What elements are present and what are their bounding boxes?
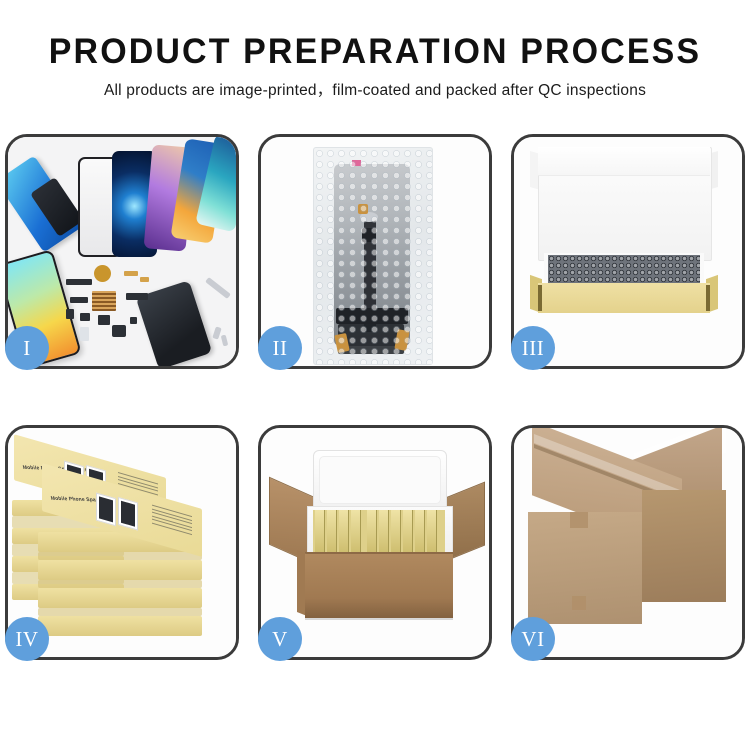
small-part-f [126,293,148,300]
small-part-e [130,317,137,324]
small-part-c [80,313,90,321]
process-step-2: II [258,134,492,369]
small-part-a [70,297,88,303]
carton-shadow [305,598,453,620]
stacked-box-r3 [38,588,202,608]
step-badge-4: IV [5,617,49,661]
page-header: PRODUCT PREPARATION PROCESS All products… [0,0,750,102]
bubble-wrapped-contents [548,255,700,283]
stacked-box-r4 [38,616,202,636]
top-box-b-spec-lines [152,505,192,537]
yellow-boxes-inside [313,510,445,554]
speaker-part [94,265,111,282]
sim-tray-part [80,327,89,341]
step-badge-6: VI [511,617,555,661]
step-badge-2: II [258,326,302,370]
connector-part [124,271,138,276]
process-step-5: V [258,425,492,660]
top-box-b-thumb-2 [118,497,138,531]
page-subtitle: All products are image-printed，film-coat… [0,80,750,102]
stacked-box-gap-6 [38,608,202,616]
page-title: PRODUCT PREPARATION PROCESS [11,31,739,73]
box-corner-right [706,285,710,311]
carton-tape-patch-bottom [572,596,586,610]
process-step-1: I [5,134,239,369]
process-step-4: Mobile Phone Spare Parts Mobile Phone Sp… [5,425,239,660]
carton-tape-patch-top [570,512,588,528]
bubble-wrap-bag [313,147,433,365]
process-step-6: VI [511,425,745,660]
process-step-grid: I II [0,134,750,694]
small-part-b [66,309,74,319]
step-badge-3: III [511,326,555,370]
stacked-box-gap-4 [38,552,202,560]
top-box-b-thumb-1 [96,493,116,527]
box-front-panel [538,283,710,313]
connector-part-2 [140,277,149,282]
carton-right-face [642,490,726,602]
box-corner-left [538,285,542,311]
step-badge-1: I [5,326,49,370]
flex-strip-part [66,279,92,285]
process-step-3: III [511,134,745,369]
foam-lid-recess [319,456,441,504]
chip-array-part [92,291,116,311]
small-part-d [98,315,110,325]
step-badge-5: V [258,617,302,661]
stacked-box-r2 [38,560,202,580]
box-lid-top-edge [538,147,710,176]
camera-module-part [112,325,126,337]
bubble-texture [314,148,432,364]
stacked-box-gap-5 [38,580,202,588]
